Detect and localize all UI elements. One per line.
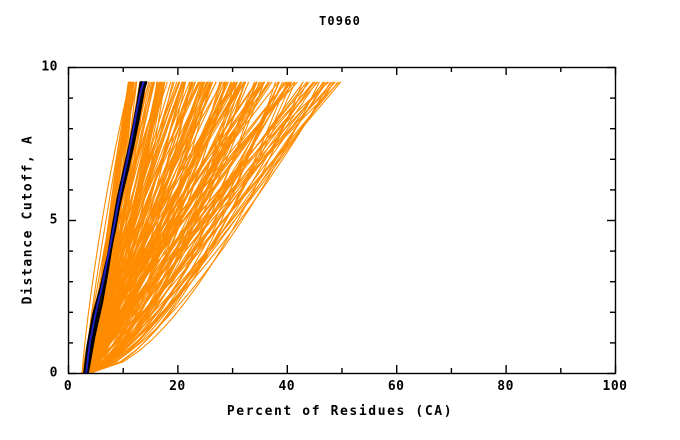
x-tick-label-80: 80 <box>497 379 514 394</box>
chart-root: T0960 Percent of Residues (CA) Distance … <box>0 0 680 440</box>
x-tick-label-0: 0 <box>64 379 72 394</box>
plot-canvas <box>0 0 680 440</box>
x-axis-title: Percent of Residues (CA) <box>0 404 680 419</box>
y-tick-label-10: 10 <box>22 60 58 75</box>
y-tick-label-5: 5 <box>22 213 58 228</box>
x-tick-label-60: 60 <box>388 379 405 394</box>
prediction-curves-group <box>82 82 341 373</box>
y-tick-label-0: 0 <box>22 366 58 381</box>
x-tick-label-100: 100 <box>603 379 628 394</box>
x-tick-label-20: 20 <box>169 379 186 394</box>
x-tick-label-40: 40 <box>278 379 295 394</box>
